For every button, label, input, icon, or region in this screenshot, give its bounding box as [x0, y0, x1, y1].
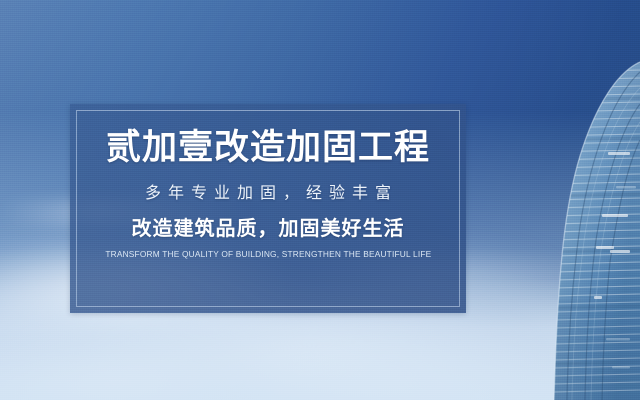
skyscraper-photo — [510, 0, 640, 400]
subtitle-text: 多年专业加固，经验丰富 — [138, 186, 398, 202]
panel-content: 贰加壹改造加固工程 多年专业加固，经验丰富 改造建筑品质，加固美好生活 TRAN… — [70, 104, 466, 313]
page-title: 贰加壹改造加固工程 — [106, 130, 430, 165]
skyscraper-icon — [510, 0, 640, 400]
english-tagline-text: TRANSFORM THE QUALITY OF BUILDING, STREN… — [105, 250, 431, 259]
headline-panel: 贰加壹改造加固工程 多年专业加固，经验丰富 改造建筑品质，加固美好生活 TRAN… — [70, 104, 466, 313]
tagline-text: 改造建筑品质，加固美好生活 — [132, 219, 405, 239]
banner-image: 贰加壹改造加固工程 多年专业加固，经验丰富 改造建筑品质，加固美好生活 TRAN… — [0, 0, 640, 400]
